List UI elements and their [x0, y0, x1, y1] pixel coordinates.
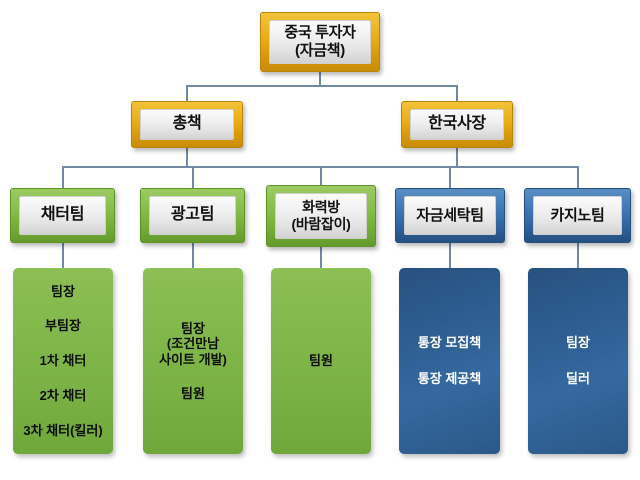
node-firepower-room-inner: 화력방 (바람잡이) [275, 193, 367, 239]
connector-firepower-room-panel [320, 247, 322, 268]
panel-ad-team-member-1: 팀원 [181, 386, 205, 402]
node-ad-team[interactable]: 광고팀 [140, 188, 245, 243]
node-firepower-room-label: 화력방 (바람잡이) [291, 199, 350, 232]
node-casino-team-inner: 카지노팀 [533, 196, 622, 235]
panel-firepower-room: 팀원 [271, 268, 371, 454]
panel-ad-team-member-0: 팀장 (조건만남 사이트 개발) [159, 321, 227, 368]
node-money-laundering-team-label: 자금세탁팀 [416, 207, 484, 225]
node-chat-team-label: 채터팀 [41, 206, 84, 225]
panel-chat-team: 팀장 부팀장 1차 채터 2차 채터 3차 채터(킬러) [13, 268, 113, 454]
node-korea-president-label: 한국사장 [428, 115, 486, 134]
panel-money-laundering-member-1: 통장 제공책 [418, 371, 481, 387]
panel-chat-team-member-0: 팀장 [51, 284, 75, 300]
panel-ad-team: 팀장 (조건만남 사이트 개발) 팀원 [143, 268, 243, 454]
panel-money-laundering-team: 통장 모집책 통장 제공책 [399, 268, 500, 454]
panel-chat-team-member-4: 3차 채터(킬러) [23, 423, 102, 439]
node-chief-manager[interactable]: 총책 [131, 101, 243, 148]
connector-to-ad-team [192, 166, 194, 188]
node-chief-manager-label: 총책 [173, 115, 202, 134]
node-ad-team-label: 광고팀 [171, 206, 214, 225]
panel-chat-team-member-2: 1차 채터 [40, 353, 87, 369]
connector-root-down [319, 72, 321, 86]
connector-to-chat-team [62, 166, 64, 188]
panel-firepower-room-member-0: 팀원 [309, 353, 333, 369]
connector-money-laundering-panel [449, 243, 451, 268]
node-money-laundering-team[interactable]: 자금세탁팀 [395, 188, 505, 243]
connector-president-down [456, 148, 458, 167]
connector-casino-panel [577, 243, 579, 268]
panel-chat-team-member-1: 부팀장 [45, 318, 81, 334]
connector-level2-bus [186, 85, 458, 87]
connector-to-money-laundering-team [449, 166, 451, 188]
connector-ad-team-panel [192, 243, 194, 268]
panel-money-laundering-member-0: 통장 모집책 [418, 335, 481, 351]
panel-chat-team-member-3: 2차 채터 [40, 388, 87, 404]
node-korea-president-inner: 한국사장 [410, 109, 504, 140]
node-chinese-investor-label: 중국 투자자 (자금책) [284, 24, 355, 59]
node-korea-president[interactable]: 한국사장 [401, 101, 513, 148]
connector-to-chief [186, 85, 188, 101]
connector-chief-down [186, 148, 188, 167]
org-chart-canvas: 중국 투자자 (자금책) 총책 한국사장 채터팀 광고팀 화력방 (바람잡이) … [0, 0, 640, 480]
connector-to-president [456, 85, 458, 101]
node-chat-team-inner: 채터팀 [19, 196, 106, 235]
connector-chat-team-panel [62, 243, 64, 268]
node-chat-team[interactable]: 채터팀 [10, 188, 115, 243]
node-money-laundering-team-inner: 자금세탁팀 [404, 196, 496, 235]
panel-casino-member-1: 딜러 [566, 371, 590, 387]
node-chinese-investor-inner: 중국 투자자 (자금책) [269, 20, 371, 64]
node-ad-team-inner: 광고팀 [149, 196, 236, 235]
node-firepower-room[interactable]: 화력방 (바람잡이) [266, 185, 376, 247]
node-casino-team-label: 카지노팀 [550, 207, 604, 225]
panel-casino-team: 팀장 딜러 [528, 268, 628, 454]
node-chief-manager-inner: 총책 [140, 109, 234, 140]
node-casino-team[interactable]: 카지노팀 [524, 188, 631, 243]
node-chinese-investor[interactable]: 중국 투자자 (자금책) [260, 12, 380, 72]
panel-casino-member-0: 팀장 [566, 335, 590, 351]
connector-to-casino-team [577, 166, 579, 188]
